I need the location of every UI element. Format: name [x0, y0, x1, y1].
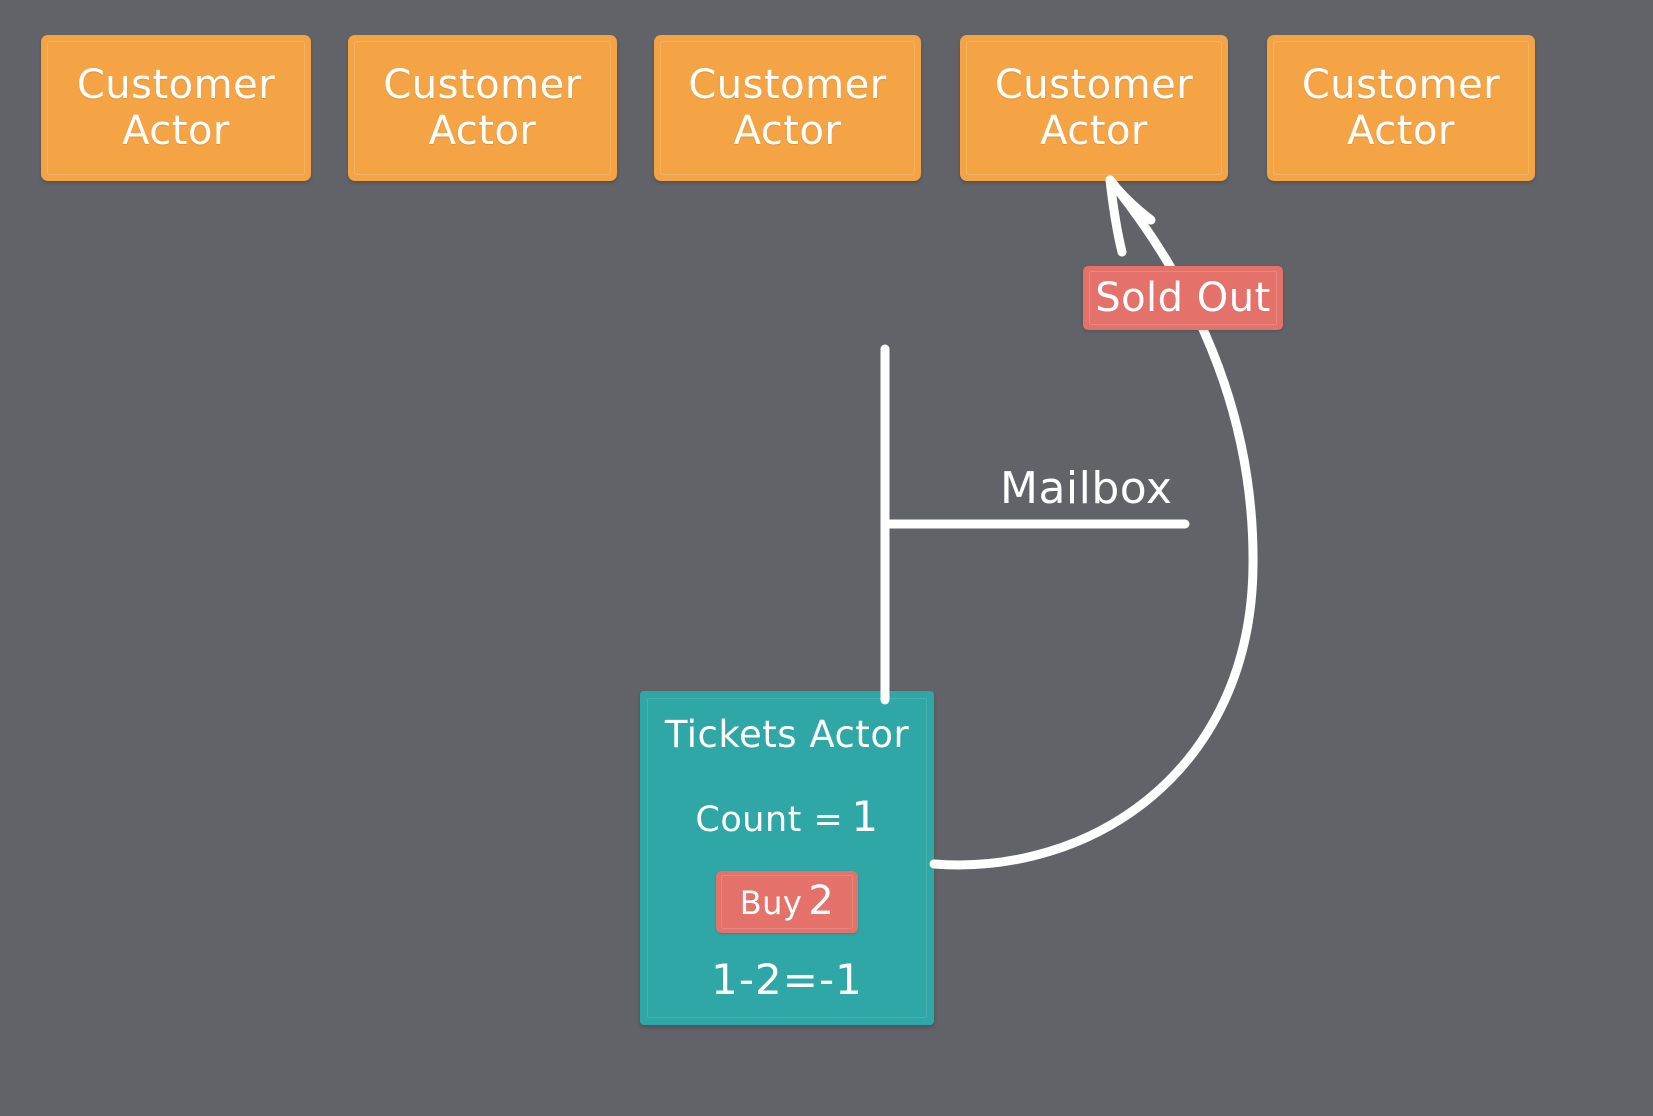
customer-actor-label: CustomerActor: [77, 62, 275, 155]
tickets-actor-title: Tickets Actor: [665, 713, 909, 756]
mailbox-label: Mailbox: [1000, 463, 1172, 514]
count-label: Count =: [695, 800, 843, 840]
arrowhead-left-barb: [1110, 180, 1122, 252]
customer-actor-label: CustomerActor: [688, 62, 886, 155]
sold-out-badge-label: Sold Out: [1095, 275, 1271, 321]
sold-out-badge[interactable]: Sold Out: [1083, 266, 1283, 330]
customer-actor-label: CustomerActor: [383, 62, 581, 155]
buy-request-badge[interactable]: Buy2: [716, 871, 859, 933]
tickets-actor-formula: 1-2=-1: [711, 955, 863, 1004]
customer-actor-box-5[interactable]: CustomerActor: [1267, 35, 1535, 181]
tickets-actor-count: Count =1: [695, 792, 878, 841]
customer-actor-box-1[interactable]: CustomerActor: [41, 35, 311, 181]
buy-quantity: 2: [808, 878, 834, 924]
arrowhead-right-barb: [1110, 180, 1151, 220]
tickets-actor-box[interactable]: Tickets Actor Count =1 Buy2 1-2=-1: [640, 691, 934, 1025]
count-value: 1: [851, 792, 878, 841]
customer-actor-box-3[interactable]: CustomerActor: [654, 35, 921, 181]
customer-actor-box-4[interactable]: CustomerActor: [960, 35, 1228, 181]
diagram-canvas: CustomerActor CustomerActor CustomerActo…: [0, 0, 1653, 1116]
buy-label: Buy: [740, 884, 803, 922]
customer-actor-box-2[interactable]: CustomerActor: [348, 35, 617, 181]
customer-actor-label: CustomerActor: [995, 62, 1193, 155]
customer-actor-label: CustomerActor: [1302, 62, 1500, 155]
